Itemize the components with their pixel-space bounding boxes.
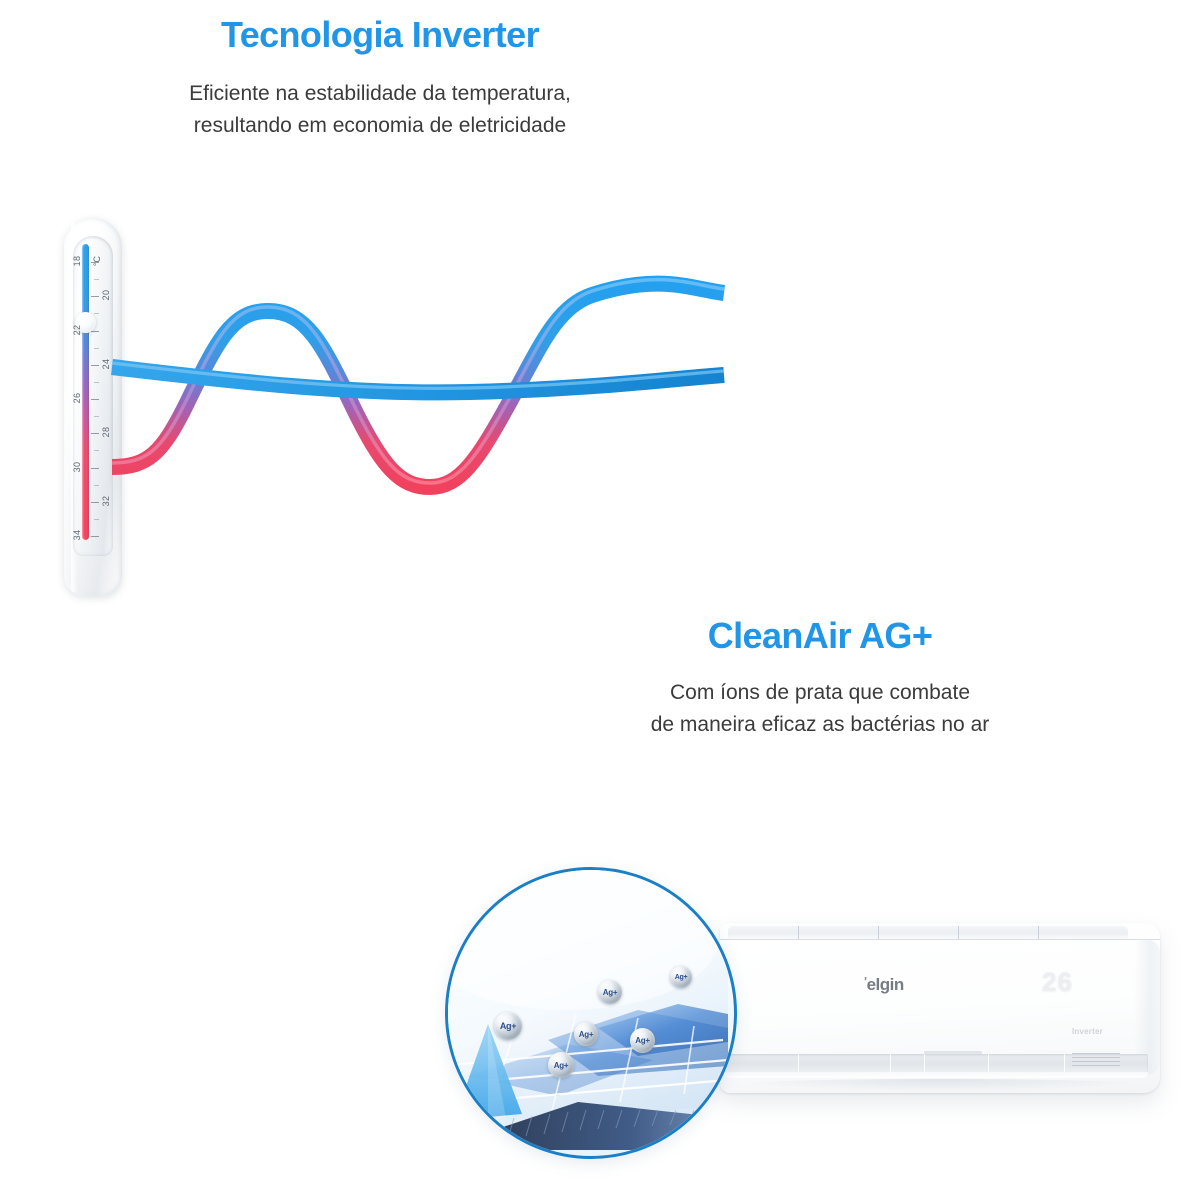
- thermometer-tick-label: 30: [72, 458, 82, 476]
- ag-ion-sphere: Ag+: [548, 1052, 574, 1078]
- thermometer-tick-label: 22: [72, 321, 82, 339]
- ac-vertical-fins: [1072, 1053, 1120, 1069]
- cleanair-section: CleanAir AG+ Com íons de prata que comba…: [0, 595, 1200, 795]
- ac-grille-divider: [958, 926, 959, 939]
- inverter-section: Tecnologia Inverter Eficiente na estabil…: [0, 0, 1200, 600]
- cleanair-heading: CleanAir AG+: [440, 615, 1200, 657]
- thermometer-tick-minor: [94, 519, 99, 520]
- ag-ion-sphere: Ag+: [494, 1012, 522, 1040]
- temperature-wave-graphic: [100, 255, 750, 525]
- thermometer-tick-minor: [94, 450, 99, 451]
- filter-magnifier-callout: Ag+ Ag+ Ag+ Ag+ Ag+ Ag+: [445, 867, 737, 1159]
- ag-ion-sphere: Ag+: [670, 966, 692, 988]
- ac-grille-divider: [798, 926, 799, 939]
- thermometer-tick-major: [91, 468, 99, 469]
- elgin-logo-text: elgin: [867, 975, 904, 994]
- ac-drop-shadow: [732, 1079, 1148, 1091]
- ac-fin-line: [1072, 1065, 1120, 1066]
- air-conditioner-unit: 'elgin 26 Inverter: [720, 923, 1160, 1093]
- thermometer-tick-major: [91, 399, 99, 400]
- ac-front-panel: [720, 940, 1160, 1055]
- ac-temperature-display: 26: [1042, 967, 1073, 998]
- thermometer-tick-label: 18: [72, 252, 82, 270]
- product-image-block: 'elgin 26 Inverter: [430, 855, 1170, 1185]
- ag-ion-sphere: Ag+: [598, 980, 622, 1004]
- thermometer-tick-major: [91, 502, 99, 503]
- thermometer-tick-major: [91, 433, 99, 434]
- thermometer-tick-minor: [94, 416, 99, 417]
- ac-grille-divider: [1038, 926, 1039, 939]
- inverter-subtitle: Eficiente na estabilidade da temperatura…: [0, 78, 760, 142]
- cleanair-subtitle: Com íons de prata que combate de maneira…: [440, 677, 1200, 741]
- elgin-logo-tick: ': [864, 974, 867, 989]
- ag-ion-sphere: Ag+: [574, 1022, 598, 1046]
- thermometer-tick-major: [91, 536, 99, 537]
- ac-grille-divider: [878, 926, 879, 939]
- filter-closeup-graphic: [448, 870, 728, 1150]
- thermometer-tick-minor: [94, 382, 99, 383]
- ac-fin-line: [1072, 1053, 1120, 1054]
- ac-top-intake-grille: [728, 926, 1128, 939]
- elgin-logo: 'elgin: [864, 975, 904, 995]
- thermometer-tick-major: [91, 365, 99, 366]
- ac-inverter-badge: Inverter: [1072, 1027, 1103, 1036]
- thermometer-tick-minor: [94, 279, 99, 280]
- thermometer-tick-major: [91, 331, 99, 332]
- inverter-heading: Tecnologia Inverter: [0, 14, 760, 56]
- thermometer-tick-label: 26: [72, 389, 82, 407]
- thermometer-tick-label: 34: [72, 526, 82, 544]
- ac-louver-lip: [724, 1072, 1148, 1078]
- ag-ion-sphere: Ag+: [630, 1028, 655, 1053]
- ac-fin-line: [1072, 1061, 1120, 1062]
- thermometer-tick-minor: [94, 485, 99, 486]
- thermometer-tick-minor: [94, 348, 99, 349]
- thermometer-tick-major: [91, 296, 99, 297]
- thermometer-tick-minor: [94, 313, 99, 314]
- ac-fin-line: [1072, 1057, 1120, 1058]
